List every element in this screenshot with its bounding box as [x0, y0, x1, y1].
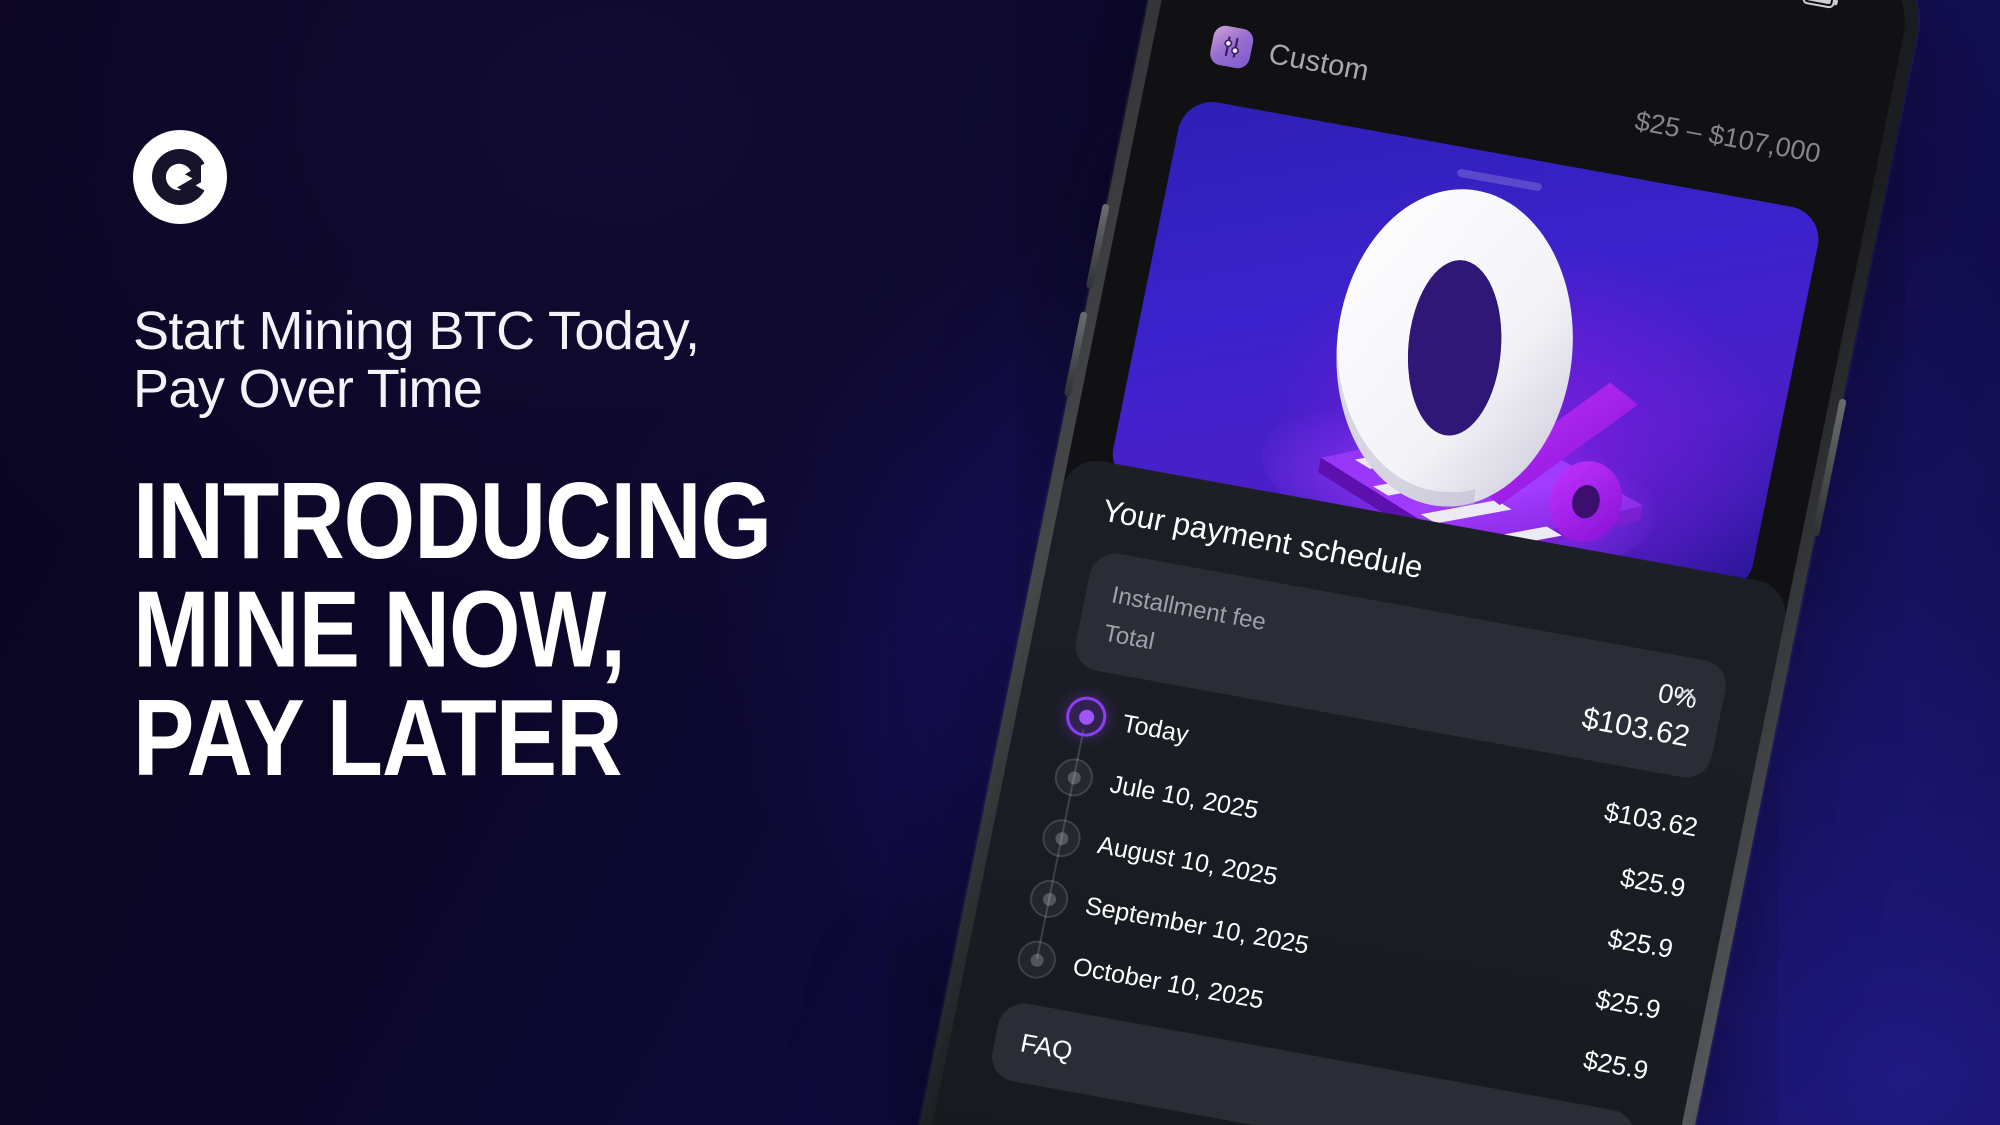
timeline-dot [1041, 818, 1081, 857]
plan-price-range: $25 – $107,000 [1632, 105, 1823, 169]
total-label: Total [1101, 620, 1156, 657]
phone-screen: Custom $25 – $107,000 [902, 0, 1918, 1125]
faq-label: FAQ [1018, 1027, 1075, 1067]
timeline-dot [1029, 879, 1069, 918]
battery-icon [1802, 0, 1837, 9]
wifi-icon [1764, 0, 1794, 2]
chevron-up-icon[interactable] [1671, 680, 1702, 710]
plan-label: Custom [1266, 38, 1372, 88]
timeline-dot-active [1066, 697, 1106, 736]
gomining-circle-logo-icon [133, 130, 227, 224]
installment-date: Jule 10, 2025 [1107, 770, 1261, 825]
installment-date: Today [1120, 709, 1191, 749]
sub-headline: Start Mining BTC Today, Pay Over Time [133, 302, 1033, 419]
timeline-dot [1017, 940, 1057, 979]
installment-amount: $103.62 [1602, 796, 1701, 843]
installment-amount: $25.9 [1618, 862, 1688, 904]
installment-amount: $25.9 [1606, 922, 1676, 964]
timeline-dot [1054, 758, 1094, 797]
installment-amount: $25.9 [1581, 1044, 1651, 1086]
phone-mockup: Custom $25 – $107,000 [887, 0, 1934, 1125]
installment-amount: $25.9 [1593, 983, 1663, 1025]
promo-banner: Start Mining BTC Today, Pay Over Time IN… [0, 0, 2000, 1125]
main-headline: INTRODUCING MINE NOW, PAY LATER [133, 467, 1033, 793]
marketing-copy-block: Start Mining BTC Today, Pay Over Time IN… [133, 130, 1033, 743]
sliders-custom-icon [1208, 24, 1255, 70]
status-bar [1181, 0, 1913, 38]
phone-frame: Custom $25 – $107,000 [887, 0, 1934, 1125]
